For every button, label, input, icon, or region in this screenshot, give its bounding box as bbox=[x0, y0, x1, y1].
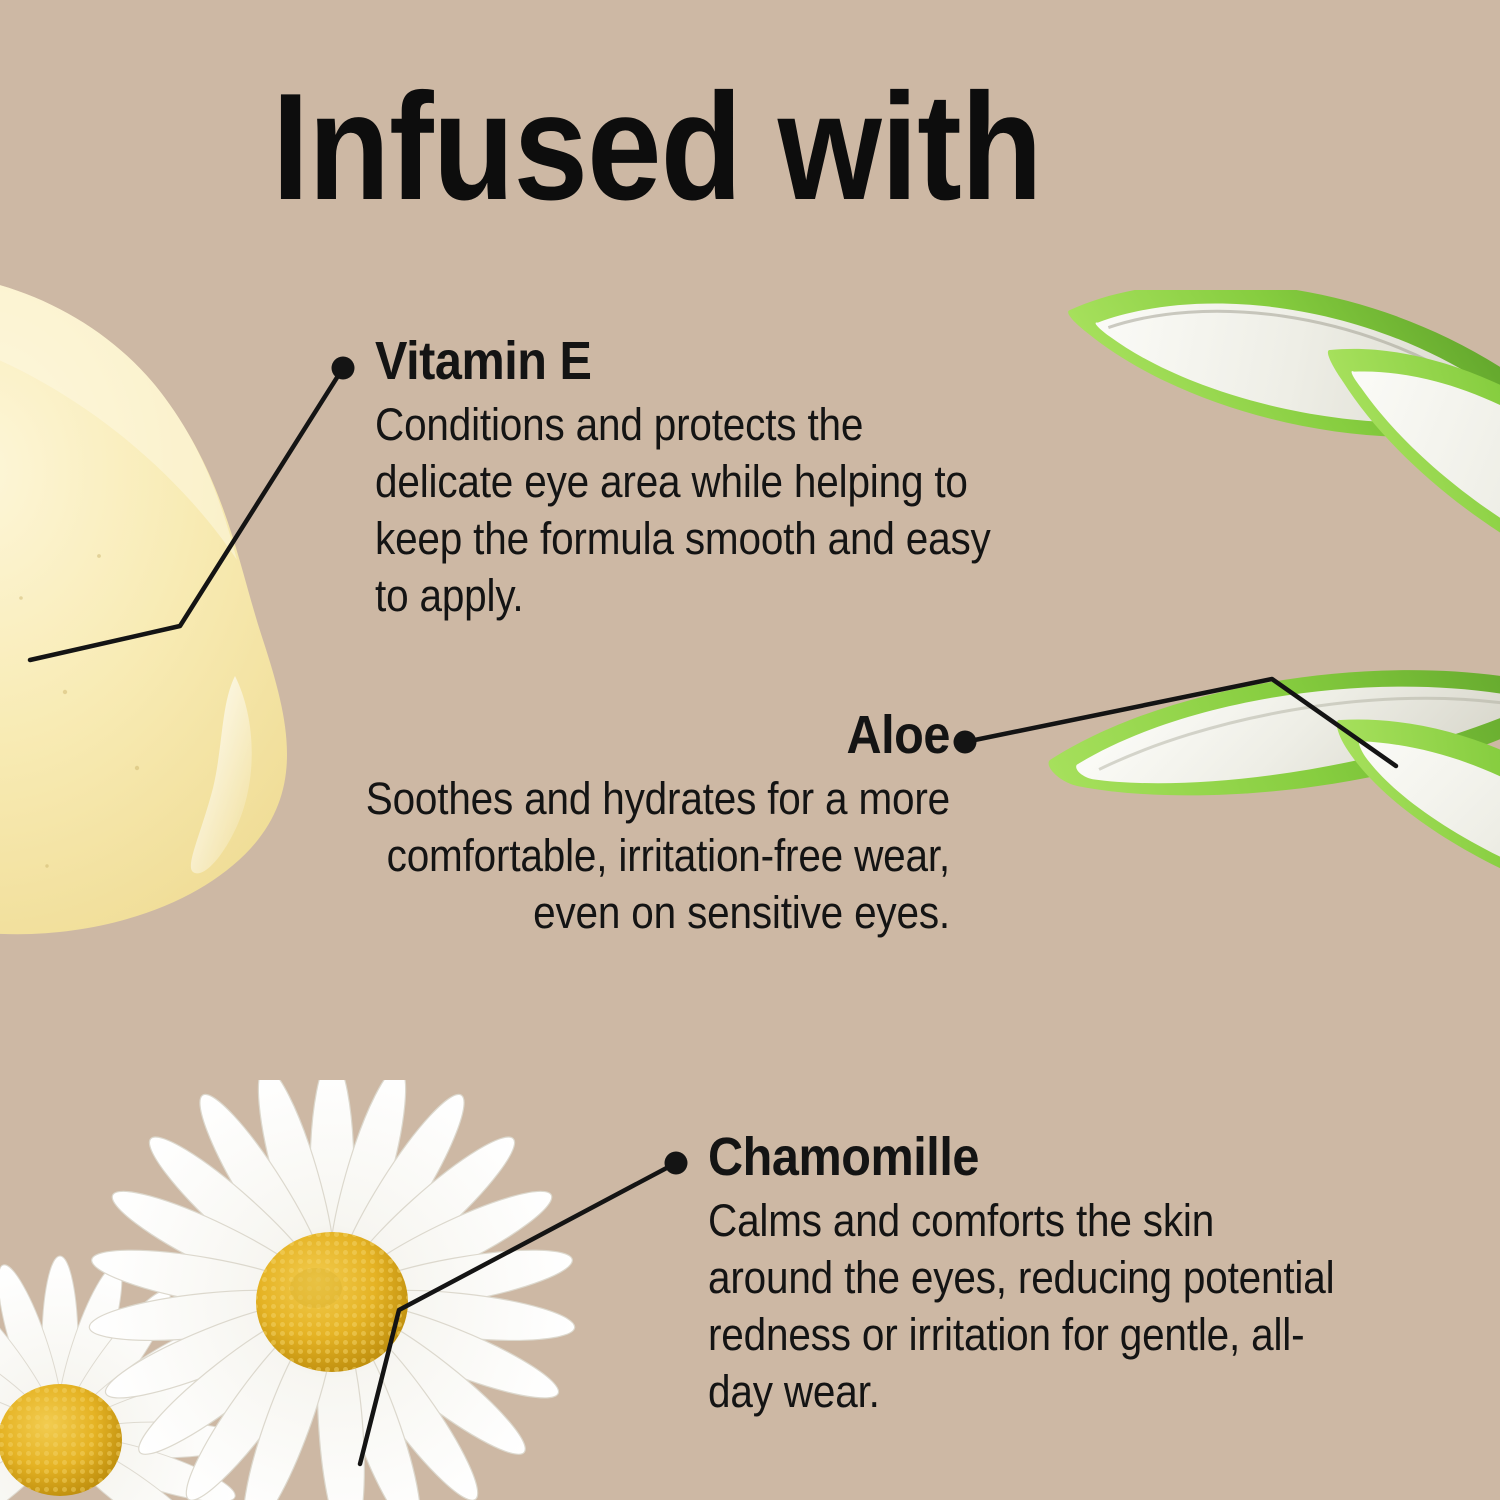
ingredient-block-chamomille: Chamomille Calms and comforts the skin a… bbox=[708, 1128, 1408, 1420]
ingredient-name-vitamin-e: Vitamin E bbox=[375, 332, 1005, 390]
ingredient-name-aloe: Aloe bbox=[316, 706, 951, 764]
ingredient-description-aloe: Soothes and hydrates for a more comforta… bbox=[316, 770, 951, 941]
ingredient-description-chamomille: Calms and comforts the skin around the e… bbox=[708, 1192, 1338, 1420]
page-title: Infused with bbox=[272, 72, 1042, 222]
ingredient-block-vitamin-e: Vitamin E Conditions and protects the de… bbox=[375, 332, 1075, 624]
ingredient-description-vitamin-e: Conditions and protects the delicate eye… bbox=[375, 396, 1005, 624]
ingredient-block-aloe: Aloe Soothes and hydrates for a more com… bbox=[245, 706, 950, 941]
ingredient-name-chamomille: Chamomille bbox=[708, 1128, 1338, 1186]
leader-line-chamomille bbox=[360, 1152, 688, 1465]
infographic-canvas: Infused with Vitamin E Conditions and pr… bbox=[0, 0, 1500, 1500]
leader-line-aloe bbox=[954, 679, 1397, 766]
leader-line-vitamin-e bbox=[30, 357, 355, 661]
